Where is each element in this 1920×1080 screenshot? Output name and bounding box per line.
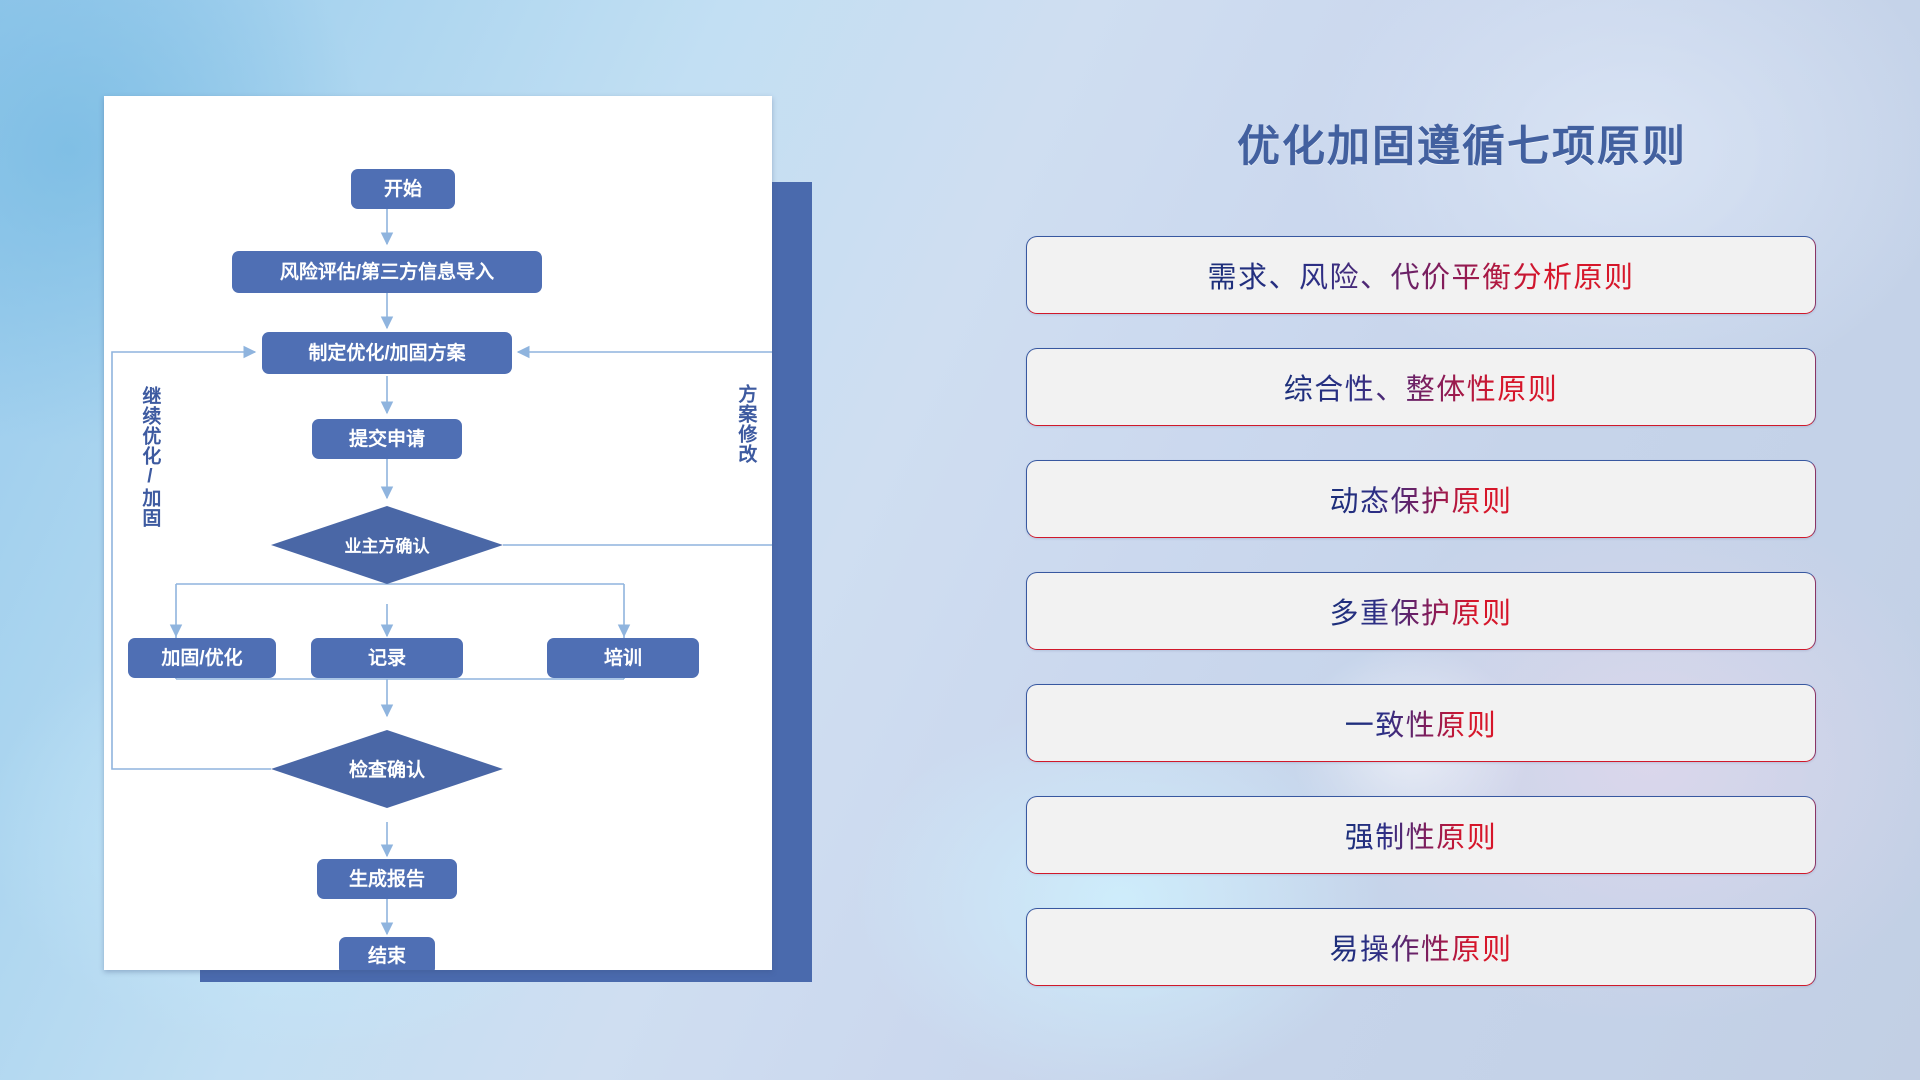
principle-label: 强制性原则 [1345,814,1498,856]
flow-node-generate-report[interactable]: 生成报告 [317,859,457,899]
flowchart-diagram: 开始 风险评估/第三方信息导入 制定优化/加固方案 提交申请 业主方确认 [104,96,772,970]
flow-loop-label-plan-revision: 方案修改 [736,384,755,464]
list-item[interactable]: 综合性、整体性原则 [1026,348,1816,426]
page-title: 优化加固遵循七项原则 [1152,112,1772,174]
flow-node-label: 业主方确认 [345,536,431,556]
flow-node-end[interactable]: 结束 [339,937,435,970]
flow-node-label: 制定优化/加固方案 [308,341,466,364]
flow-node-label: 检查确认 [349,758,425,781]
principle-label: 多重保护原则 [1329,590,1512,632]
flowchart-card: 开始 风险评估/第三方信息导入 制定优化/加固方案 提交申请 业主方确认 [104,96,772,970]
list-item[interactable]: 一致性原则 [1026,684,1816,762]
principles-list: 需求、风险、代价平衡分析原则 综合性、整体性原则 动态保护原则 多重保护原则 一… [1026,236,1816,1020]
flow-node-label: 生成报告 [349,867,425,890]
flow-node-label: 结束 [368,944,407,967]
flow-node-label: 风险评估/第三方信息导入 [280,260,494,283]
flow-connectors [112,209,772,934]
list-item[interactable]: 易操作性原则 [1026,908,1816,986]
list-item[interactable]: 动态保护原则 [1026,460,1816,538]
list-item[interactable]: 需求、风险、代价平衡分析原则 [1026,236,1816,314]
flow-node-training[interactable]: 培训 [547,638,699,678]
principle-label: 动态保护原则 [1329,478,1512,520]
flow-node-label: 培训 [604,646,642,669]
list-item[interactable]: 强制性原则 [1026,796,1816,874]
flow-loop-label-continue-optimize: 继续优化/加固 [140,386,159,528]
flow-node-submit[interactable]: 提交申请 [312,419,462,459]
flow-node-owner-confirm[interactable]: 业主方确认 [271,506,503,584]
flow-node-label: 提交申请 [349,427,425,450]
flow-node-risk-assessment[interactable]: 风险评估/第三方信息导入 [232,251,542,293]
flow-node-inspection-confirm[interactable]: 检查确认 [271,730,503,808]
flow-node-plan[interactable]: 制定优化/加固方案 [262,332,512,374]
list-item[interactable]: 多重保护原则 [1026,572,1816,650]
flow-node-reinforce[interactable]: 加固/优化 [128,638,276,678]
flow-nodes: 开始 风险评估/第三方信息导入 制定优化/加固方案 提交申请 业主方确认 [128,169,699,970]
flow-node-label: 记录 [368,647,406,669]
flow-node-label: 开始 [384,177,422,200]
slide-canvas: 开始 风险评估/第三方信息导入 制定优化/加固方案 提交申请 业主方确认 [0,0,1920,1080]
flow-node-start[interactable]: 开始 [351,169,455,209]
flow-node-label: 加固/优化 [160,646,242,669]
flow-node-record[interactable]: 记录 [311,638,463,678]
principle-label: 综合性、整体性原则 [1284,366,1559,408]
principle-label: 一致性原则 [1345,702,1498,744]
principle-label: 需求、风险、代价平衡分析原则 [1207,254,1634,296]
principle-label: 易操作性原则 [1329,926,1512,968]
